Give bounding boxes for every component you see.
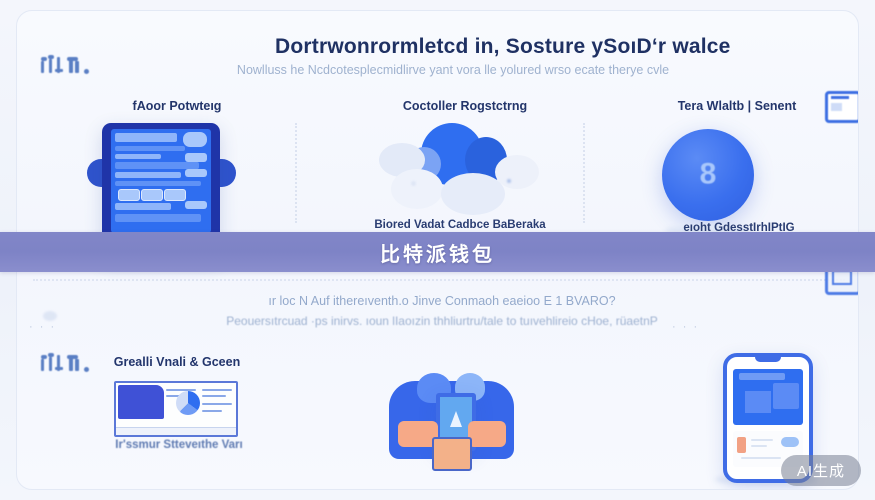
laptop-pie-chart (176, 391, 200, 415)
person-card (432, 437, 472, 471)
window-card-icon (825, 91, 859, 123)
tablet-side-handle-left (87, 159, 103, 187)
brand-banner: 比特派钱包 (0, 232, 875, 272)
person-phone-glyph (450, 411, 462, 427)
column-separator-2 (583, 123, 585, 223)
laptop-panel (118, 385, 164, 419)
column-separator-1 (295, 123, 297, 223)
section-divider (33, 279, 845, 281)
person-hand-right (468, 421, 506, 447)
phone-hero-panel (733, 369, 803, 425)
brand-banner-text: 比特派钱包 (380, 238, 495, 267)
tablet-side-handle-right (220, 159, 236, 187)
coin-mark: 8 (700, 157, 717, 191)
right-dots: · · · (672, 321, 699, 333)
bottom-heading-1: Grealli Vnali & Gceen (97, 355, 257, 369)
middle-text-line-2: Peouersıtrcuad ·ps inirvs. ıoun lIaoızin… (207, 314, 677, 328)
middle-text-line-1: ır loc N Auf ithereıventh.o Jinve Conmao… (227, 294, 657, 308)
phone-hero-square (741, 387, 775, 417)
phone-blue-chip (781, 437, 799, 447)
column-heading-3: Tera Wlaltb | Senent (637, 99, 837, 113)
left-dots: · · · (29, 321, 56, 333)
column-heading-2: Coctoller Rogstctrng (365, 99, 565, 113)
phone-orange-chip (737, 437, 746, 453)
column-caption-2: Biored Vadat Cadbce BaBeraka (335, 219, 585, 231)
coin-circle-illustration: 8 (662, 129, 754, 221)
laptop-dashboard-illustration (114, 381, 238, 437)
tablet-screen (111, 129, 211, 233)
page-title: Dortrwonrormletcd in, Sosture ySoıDʻr wa… (275, 35, 705, 59)
glyph-cluster-icon (39, 55, 99, 81)
page-subtitle: Nowlluss he Ncdcotesplecmidlirve yant vo… (203, 63, 703, 77)
bottom-caption-1: Ir'ssmur Stteveıthe Varı (79, 439, 279, 451)
phone-notch (755, 357, 781, 362)
screenshot-root: Dortrwonrormletcd in, Sosture ySoıDʻr wa… (0, 0, 875, 500)
laptop-base (116, 427, 236, 435)
person-holding-phone-illustration (389, 363, 514, 463)
column-heading-1: fAoor Potwteıg (82, 99, 272, 113)
glyph-cluster-icon-bottom (39, 353, 99, 379)
cloud-blob-illustration (377, 119, 557, 217)
ai-watermark-badge: AI生成 (781, 455, 861, 486)
